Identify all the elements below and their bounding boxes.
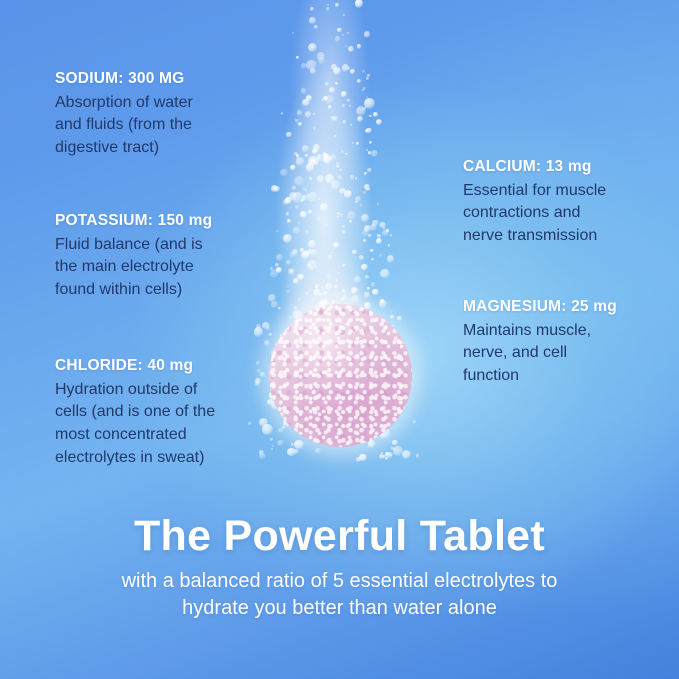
- fact-calcium-title: CALCIUM: 13 mg: [463, 158, 678, 177]
- fact-magnesium-title: MAGNESIUM: 25 mg: [463, 298, 678, 317]
- fact-potassium-body: Fluid balance (and is the main electroly…: [55, 234, 290, 302]
- tablet-granule-texture: [269, 304, 412, 447]
- fact-chloride-body: Hydration outside of cells (and is one o…: [55, 379, 290, 470]
- fact-calcium-body: Essential for muscle contractions and ne…: [463, 180, 678, 248]
- footer: The Powerful Tablet with a balanced rati…: [0, 512, 679, 623]
- fact-potassium: POTASSIUM: 150 mg Fluid balance (and is …: [55, 212, 290, 302]
- fact-sodium: SODIUM: 300 MG Absorption of water and f…: [55, 70, 290, 160]
- fact-chloride: CHLORIDE: 40 mg Hydration outside of cel…: [55, 357, 290, 469]
- effervescent-tablet: [269, 304, 412, 447]
- page-title: The Powerful Tablet: [0, 512, 679, 560]
- fact-calcium: CALCIUM: 13 mg Essential for muscle cont…: [463, 158, 678, 248]
- fact-potassium-title: POTASSIUM: 150 mg: [55, 212, 290, 231]
- fact-sodium-title: SODIUM: 300 MG: [55, 70, 290, 89]
- fact-sodium-body: Absorption of water and fluids (from the…: [55, 92, 290, 160]
- fact-magnesium-body: Maintains muscle, nerve, and cell functi…: [463, 320, 678, 388]
- fact-chloride-title: CHLORIDE: 40 mg: [55, 357, 290, 376]
- product-infographic: SODIUM: 300 MG Absorption of water and f…: [0, 0, 679, 679]
- footer-subtitle: with a balanced ratio of 5 essential ele…: [0, 568, 679, 622]
- fact-magnesium: MAGNESIUM: 25 mg Maintains muscle, nerve…: [463, 298, 678, 388]
